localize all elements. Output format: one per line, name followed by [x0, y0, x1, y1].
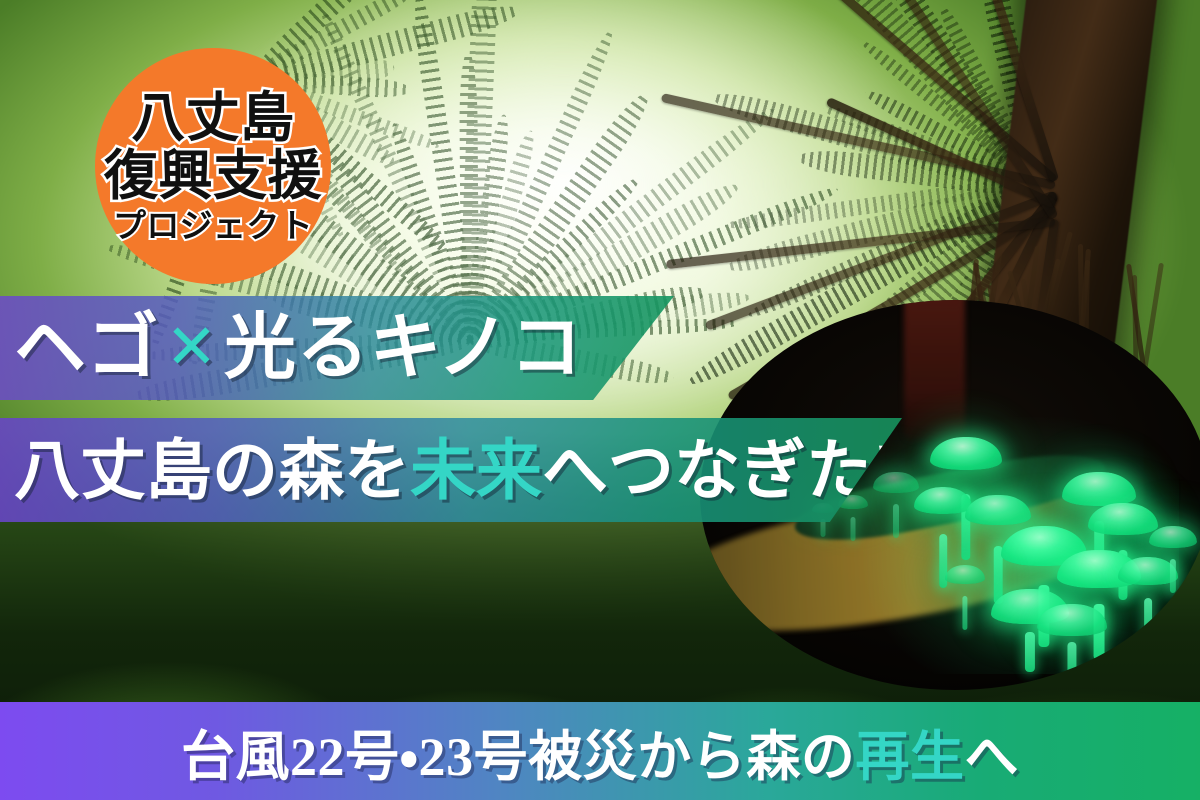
headline-banner-primary: ヘゴ ✕ 光るキノコ: [0, 296, 674, 400]
project-badge: 八丈島 復興支援 プロジェクト: [95, 48, 331, 284]
band1-part1: ヘゴ: [14, 312, 159, 384]
bottom-highlight: 再生: [855, 712, 964, 791]
mushroom-stalk: [850, 517, 855, 541]
cross-icon: ✕: [159, 317, 224, 379]
poster-root: 八丈島 復興支援 プロジェクト ヘゴ ✕ 光るキノコ 八丈島の森を 未来 へつな…: [0, 0, 1200, 800]
badge-line-2: 復興支援: [104, 149, 322, 203]
bottom-part1: 台風22号・23号被災から森の: [181, 712, 855, 791]
bottom-part2: へ: [965, 712, 1020, 791]
mushroom-glow-halo: [863, 417, 1179, 674]
bottom-caption-bar: 台風22号・23号被災から森の再生へ: [0, 702, 1200, 800]
headline-banner-secondary: 八丈島の森を 未来 へつなぎたい！: [0, 418, 902, 522]
band2-highlight: 未来: [410, 437, 542, 503]
band1-part2: 光るキノコ: [224, 312, 583, 384]
badge-line-1: 八丈島: [131, 91, 295, 145]
band2-part1: 八丈島の森を: [14, 437, 410, 503]
badge-line-3: プロジェクト: [113, 209, 313, 242]
